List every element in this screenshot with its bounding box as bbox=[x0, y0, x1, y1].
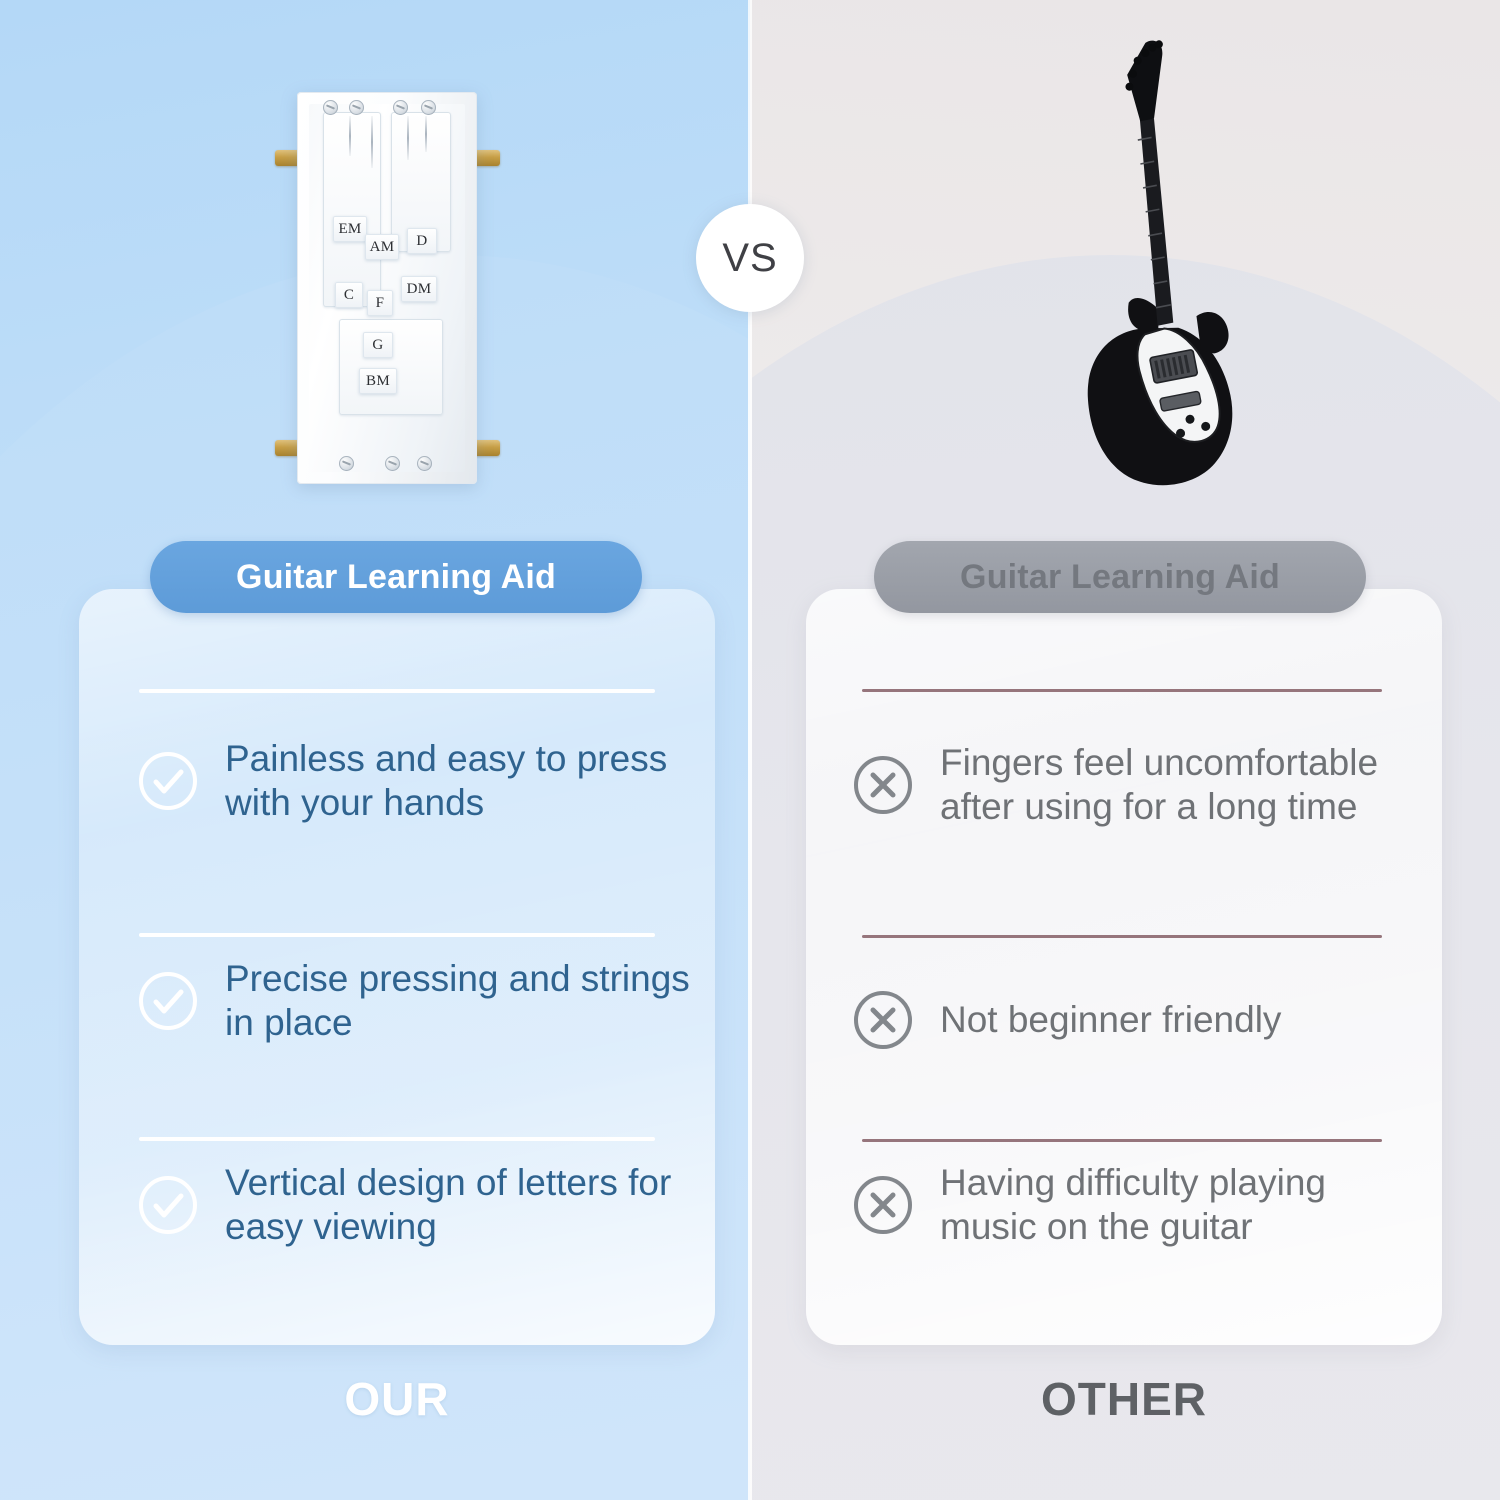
other-badge-label: Guitar Learning Aid bbox=[960, 558, 1280, 597]
vs-label: VS bbox=[722, 236, 777, 281]
our-divider-1 bbox=[139, 689, 655, 693]
other-divider-3 bbox=[862, 1139, 1382, 1142]
other-feature-list: Fingers feel uncomfortable after using f… bbox=[806, 589, 1442, 1345]
aid-chord-label-bm: BM bbox=[366, 374, 390, 389]
our-feature-list: Painless and easy to press with your han… bbox=[79, 589, 715, 1345]
aid-string-2 bbox=[371, 116, 373, 168]
vs-badge: VS bbox=[696, 204, 804, 312]
aid-chord-slider-dm[interactable]: DM bbox=[401, 276, 437, 302]
x-circle-icon bbox=[852, 989, 914, 1051]
electric-guitar-image bbox=[1035, 25, 1275, 495]
aid-chord-label-f: F bbox=[376, 296, 385, 311]
aid-chord-slider-am[interactable]: AM bbox=[365, 234, 399, 260]
aid-chord-label-am: AM bbox=[370, 240, 395, 255]
other-divider-2 bbox=[862, 935, 1382, 938]
electric-guitar-icon bbox=[1035, 25, 1275, 495]
aid-chord-slider-bm[interactable]: BM bbox=[359, 368, 397, 394]
our-feature-item-3: Vertical design of letters for easy view… bbox=[137, 1161, 697, 1248]
aid-screw-top-2 bbox=[349, 100, 364, 115]
other-feature-text-1: Fingers feel uncomfortable after using f… bbox=[940, 741, 1432, 828]
aid-chord-slider-em[interactable]: EM bbox=[333, 216, 367, 242]
other-footer-label: OTHER bbox=[806, 1372, 1442, 1426]
our-card: Painless and easy to press with your han… bbox=[79, 589, 715, 1345]
aid-chord-slider-f[interactable]: F bbox=[367, 290, 393, 316]
aid-inner-plate: EM AM D C F DM G bbox=[309, 104, 465, 472]
aid-screw-bottom-1 bbox=[339, 456, 354, 471]
aid-chord-slider-c[interactable]: C bbox=[335, 282, 363, 308]
other-feature-text-2: Not beginner friendly bbox=[940, 998, 1281, 1042]
other-card: Fingers feel uncomfortable after using f… bbox=[806, 589, 1442, 1345]
other-feature-text-3: Having difficulty playing music on the g… bbox=[940, 1161, 1432, 1248]
our-divider-2 bbox=[139, 933, 655, 937]
check-circle-icon bbox=[137, 1174, 199, 1236]
aid-string-4 bbox=[425, 116, 427, 152]
aid-chord-label-em: EM bbox=[338, 222, 361, 237]
aid-chord-slider-g[interactable]: G bbox=[363, 332, 393, 358]
aid-screw-top-4 bbox=[421, 100, 436, 115]
other-feature-item-1: Fingers feel uncomfortable after using f… bbox=[852, 741, 1432, 828]
other-badge: Guitar Learning Aid bbox=[874, 541, 1366, 613]
our-footer-label: OUR bbox=[79, 1372, 715, 1426]
our-feature-text-1: Painless and easy to press with your han… bbox=[225, 737, 697, 824]
other-feature-item-3: Having difficulty playing music on the g… bbox=[852, 1161, 1432, 1248]
aid-body: EM AM D C F DM G bbox=[297, 92, 477, 484]
aid-chord-label-g: G bbox=[372, 338, 383, 353]
aid-chord-label-c: C bbox=[344, 288, 354, 303]
check-circle-icon bbox=[137, 970, 199, 1032]
aid-screw-bottom-3 bbox=[417, 456, 432, 471]
aid-chord-slider-d[interactable]: D bbox=[407, 228, 437, 254]
our-feature-text-2: Precise pressing and strings in place bbox=[225, 957, 697, 1044]
comparison-infographic: EM AM D C F DM G bbox=[0, 0, 1500, 1500]
our-feature-item-2: Precise pressing and strings in place bbox=[137, 957, 697, 1044]
our-badge-label: Guitar Learning Aid bbox=[236, 558, 556, 597]
aid-string-3 bbox=[407, 116, 409, 160]
aid-screw-top-1 bbox=[323, 100, 338, 115]
aid-chord-label-d: D bbox=[416, 234, 427, 249]
aid-string-1 bbox=[349, 116, 351, 156]
aid-chord-label-dm: DM bbox=[407, 282, 432, 297]
check-circle-icon bbox=[137, 750, 199, 812]
our-divider-3 bbox=[139, 1137, 655, 1141]
guitar-learning-aid-image: EM AM D C F DM G bbox=[275, 92, 500, 487]
aid-screw-top-3 bbox=[393, 100, 408, 115]
other-divider-1 bbox=[862, 689, 1382, 692]
aid-screw-bottom-2 bbox=[385, 456, 400, 471]
our-badge: Guitar Learning Aid bbox=[150, 541, 642, 613]
other-feature-item-2: Not beginner friendly bbox=[852, 989, 1432, 1051]
our-feature-item-1: Painless and easy to press with your han… bbox=[137, 737, 697, 824]
our-feature-text-3: Vertical design of letters for easy view… bbox=[225, 1161, 697, 1248]
x-circle-icon bbox=[852, 1174, 914, 1236]
x-circle-icon bbox=[852, 754, 914, 816]
